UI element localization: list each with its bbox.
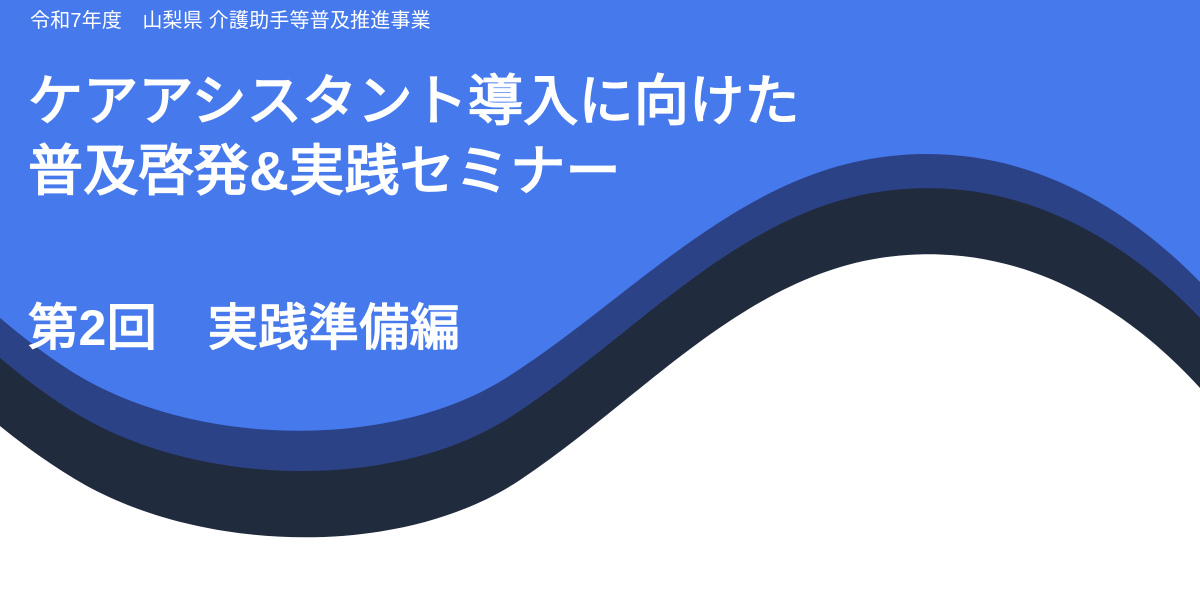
title-slide: 令和7年度 山梨県 介護助手等普及推進事業 ケアアシスタント導入に向けた 普及啓…: [0, 0, 1200, 616]
title-line-2: 普及啓発&実践セミナー: [28, 136, 1028, 206]
page-subtitle: 第2回 実践準備編: [28, 297, 928, 359]
page-title: ケアアシスタント導入に向けた 普及啓発&実践セミナー: [28, 66, 1028, 206]
title-line-1: ケアアシスタント導入に向けた: [28, 66, 1028, 136]
subtitle-line-1: 第2回 実践準備編: [28, 297, 928, 359]
eyebrow-program-label: 令和7年度 山梨県 介護助手等普及推進事業: [30, 9, 431, 34]
